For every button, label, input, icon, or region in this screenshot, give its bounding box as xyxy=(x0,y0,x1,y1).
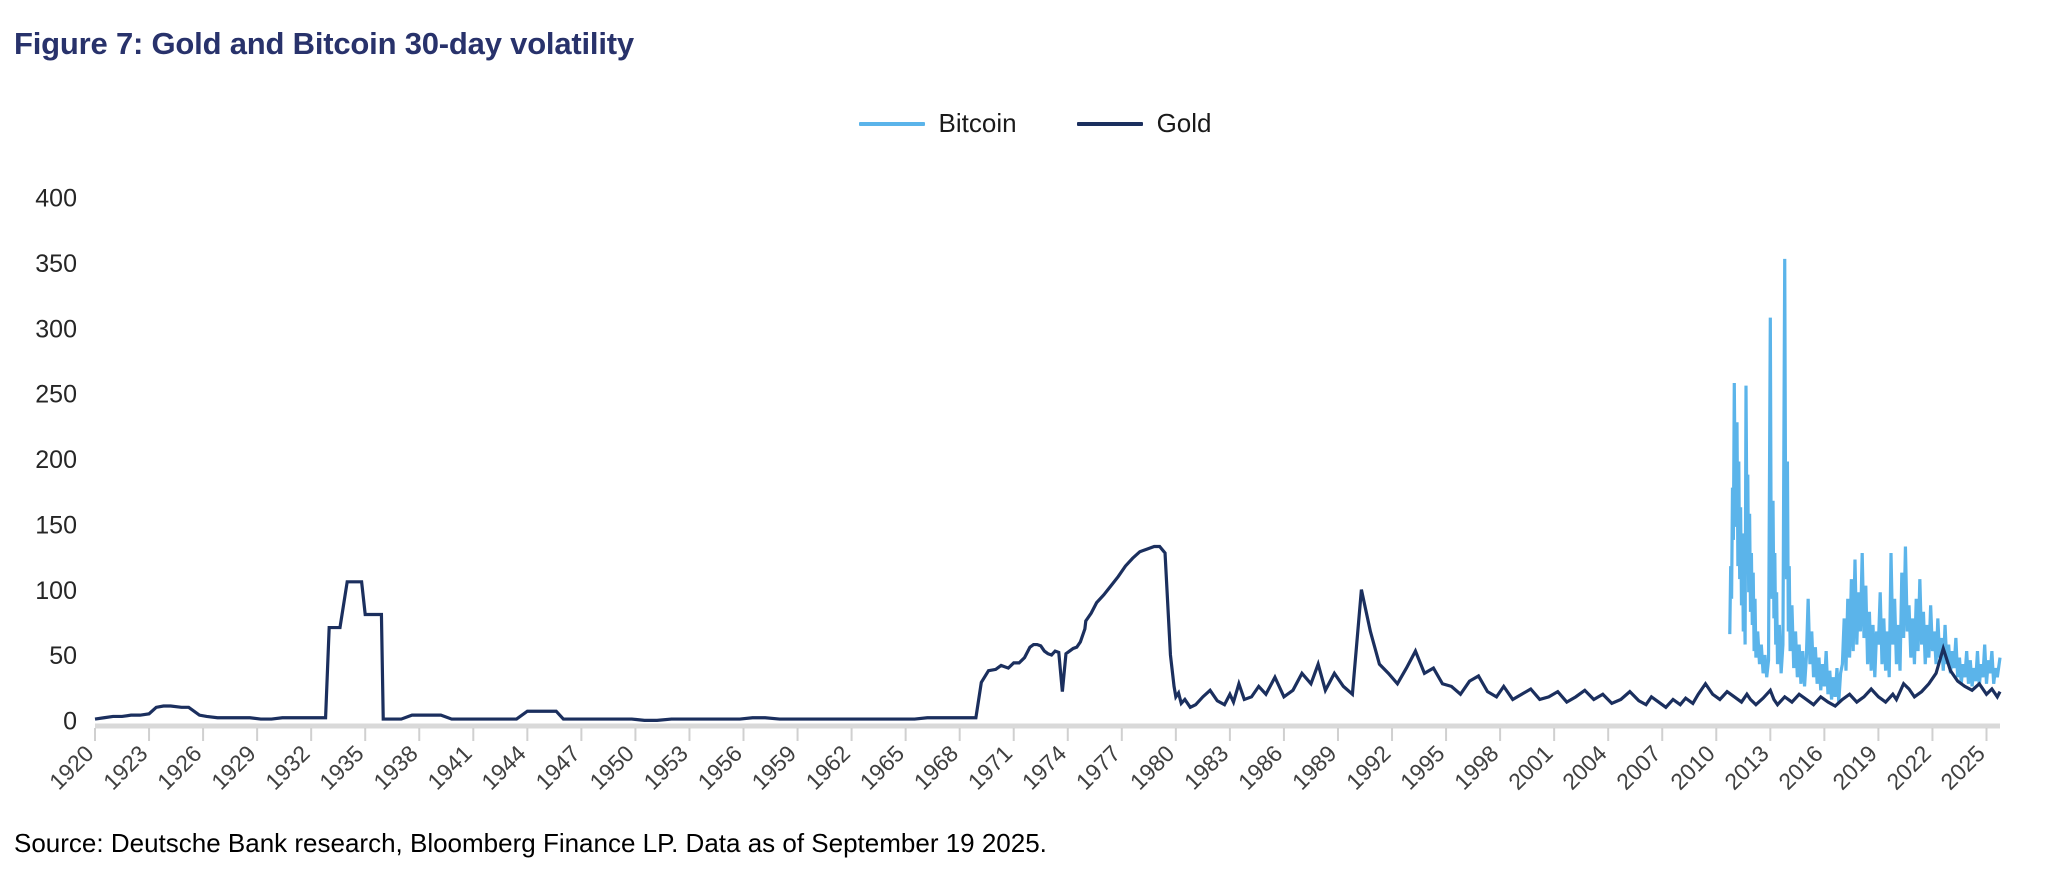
x-axis-label: 1965 xyxy=(855,740,910,795)
x-axis-label: 2025 xyxy=(1935,740,1990,795)
x-axis-label: 1998 xyxy=(1449,740,1504,795)
x-axis-label: 1971 xyxy=(963,740,1018,795)
x-axis-label: 2022 xyxy=(1881,740,1936,795)
x-axis-label: 1947 xyxy=(530,740,585,795)
x-axis-label: 2007 xyxy=(1611,740,1666,795)
x-axis-label: 1926 xyxy=(152,740,207,795)
x-axis-label: 1959 xyxy=(747,740,802,795)
y-axis-label: 400 xyxy=(35,185,77,213)
x-axis-label: 2019 xyxy=(1827,740,1882,795)
line-chart-svg: 050100150200250300350400 192019231926192… xyxy=(0,0,2070,888)
x-axis-label: 1983 xyxy=(1179,740,1234,795)
y-axis-label: 200 xyxy=(35,446,77,474)
x-axis-label: 1929 xyxy=(206,740,261,795)
series-line-bitcoin xyxy=(1730,259,2000,702)
x-axis-tick-marks xyxy=(95,728,1986,741)
x-axis-label: 2004 xyxy=(1557,740,1612,795)
x-axis-label: 1932 xyxy=(260,740,315,795)
x-axis-label: 1941 xyxy=(422,740,477,795)
x-axis-tick-labels: 1920192319261929193219351938194119441947… xyxy=(44,740,1990,795)
x-axis-label: 2010 xyxy=(1665,740,1720,795)
x-axis-label: 1968 xyxy=(909,740,964,795)
figure-container: Figure 7: Gold and Bitcoin 30-day volati… xyxy=(0,0,2070,888)
x-axis-label: 1953 xyxy=(638,740,693,795)
x-axis-label: 1962 xyxy=(801,740,856,795)
x-axis-label: 1944 xyxy=(476,740,531,795)
x-axis-label: 1977 xyxy=(1071,740,1126,795)
x-axis-label: 1923 xyxy=(98,740,153,795)
y-axis-label: 250 xyxy=(35,381,77,409)
x-axis-label: 1989 xyxy=(1287,740,1342,795)
y-axis-label: 150 xyxy=(35,511,77,539)
y-axis-tick-labels: 050100150200250300350400 xyxy=(35,185,77,736)
y-axis-label: 0 xyxy=(63,708,77,736)
x-axis-label: 1950 xyxy=(584,740,639,795)
y-axis-label: 50 xyxy=(49,642,77,670)
x-axis-label: 1956 xyxy=(692,740,747,795)
y-axis-label: 300 xyxy=(35,315,77,343)
x-axis-label: 2013 xyxy=(1719,740,1774,795)
x-axis-label: 1920 xyxy=(44,740,99,795)
x-axis-label: 1974 xyxy=(1017,740,1072,795)
source-note: Source: Deutsche Bank research, Bloomber… xyxy=(14,828,1047,859)
x-axis-label: 1992 xyxy=(1341,740,1396,795)
x-axis-label: 1986 xyxy=(1233,740,1288,795)
series-line-gold xyxy=(95,546,2000,720)
y-axis-label: 350 xyxy=(35,250,77,278)
x-axis-label: 2001 xyxy=(1503,740,1558,795)
x-axis-label: 1935 xyxy=(314,740,369,795)
chart-series-group xyxy=(95,259,2000,721)
x-axis-label: 2016 xyxy=(1773,740,1828,795)
chart-plot-area: 050100150200250300350400 192019231926192… xyxy=(0,0,2070,888)
y-axis-label: 100 xyxy=(35,577,77,605)
x-axis-label: 1995 xyxy=(1395,740,1450,795)
x-axis-label: 1938 xyxy=(368,740,423,795)
x-axis-label: 1980 xyxy=(1125,740,1180,795)
